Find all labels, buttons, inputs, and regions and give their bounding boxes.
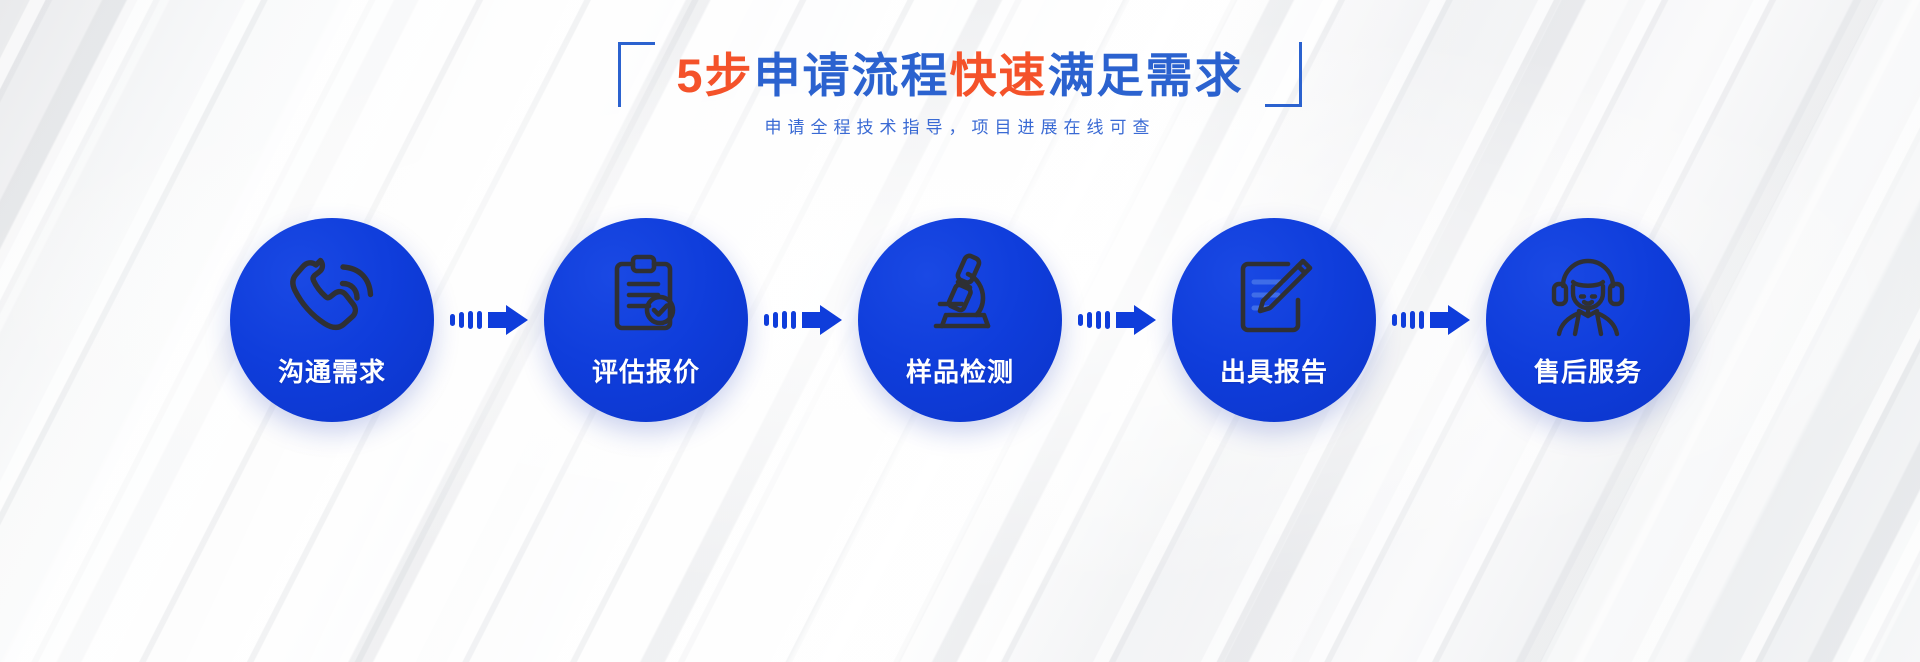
banner-stage: 5步申请流程快速满足需求 申请全程技术指导，项目进展在线可查 沟通需求 [0,0,1920,662]
connector-arrow-2 [748,305,858,335]
step-item-3[interactable]: 样品检测 [858,218,1062,422]
step-label-3: 样品检测 [906,352,1014,389]
page-subtitle: 申请全程技术指导，项目进展在线可查 [676,113,1243,138]
document-pen-icon [1230,252,1318,338]
step-item-1[interactable]: 沟通需求 [230,218,434,422]
bracket-left-decoration [618,42,655,107]
header: 5步申请流程快速满足需求 申请全程技术指导，项目进展在线可查 [0,52,1920,138]
bracket-right-decoration [1265,42,1302,107]
step-item-2[interactable]: 评估报价 [544,218,748,422]
phone-call-icon [286,252,378,338]
page-title: 5步申请流程快速满足需求 [676,52,1243,99]
microscope-icon [916,252,1004,338]
title-block: 5步申请流程快速满足需求 申请全程技术指导，项目进展在线可查 [618,52,1301,138]
connector-arrow-4 [1376,305,1486,335]
step-label-5: 售后服务 [1534,352,1642,389]
step-label-2: 评估报价 [592,352,700,389]
step-item-5[interactable]: 售后服务 [1486,218,1690,422]
title-segment-3: 快速 [950,49,1048,102]
step-label-1: 沟通需求 [278,352,386,389]
connector-arrow-3 [1062,305,1172,335]
step-item-4[interactable]: 出具报告 [1172,218,1376,422]
process-steps: 沟通需求 [0,218,1920,422]
title-segment-4: 满足需求 [1048,49,1244,102]
headset-agent-icon [1543,252,1633,338]
title-segment-2: 申请流程 [754,49,950,102]
title-segment-1: 5步 [676,49,753,102]
clipboard-check-icon [603,252,689,338]
connector-arrow-1 [434,305,544,335]
step-label-4: 出具报告 [1220,352,1328,389]
